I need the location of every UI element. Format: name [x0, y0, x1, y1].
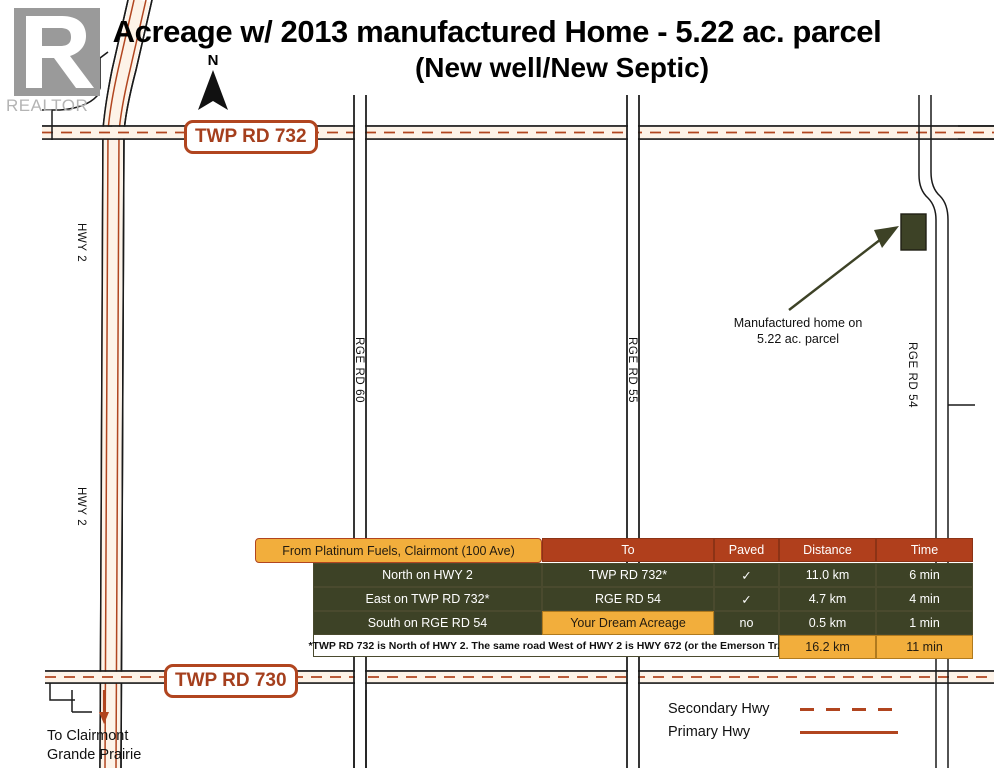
parcel-leader-arrow [789, 226, 899, 310]
map-legend: Secondary Hwy Primary Hwy [668, 697, 908, 743]
north-arrow-label: N [196, 52, 230, 69]
label-hwy-2-lower: HWY 2 [75, 487, 87, 526]
table-row: South on RGE RD 54 Your Dream Acreage no… [313, 611, 973, 635]
shield-twp-rd-730: TWP RD 730 [164, 664, 298, 698]
cell-distance: 0.5 km [779, 611, 876, 635]
table-header-row: From Platinum Fuels, Clairmont (100 Ave)… [255, 538, 973, 563]
table-footer-row: *TWP RD 732 is North of HWY 2. The same … [313, 635, 973, 659]
header-cell-paved: Paved [714, 538, 779, 562]
cell-distance: 11.0 km [779, 563, 876, 587]
cell-time: 4 min [876, 587, 973, 611]
total-time: 11 min [876, 635, 973, 659]
cell-from: South on RGE RD 54 [313, 611, 542, 635]
legend-label-primary: Primary Hwy [668, 724, 786, 740]
destination-line-2: Grande Prairie [47, 746, 141, 765]
parcel-annotation-line-2: 5.22 ac. parcel [718, 331, 878, 347]
label-hwy-2-upper: HWY 2 [75, 223, 87, 262]
parcel-annotation-line-1: Manufactured home on [718, 315, 878, 331]
cell-paved: ✓ [714, 587, 779, 611]
label-rge-rd-55: RGE RD 55 [626, 337, 638, 403]
parcel-marker [901, 214, 926, 250]
parcel-annotation: Manufactured home on 5.22 ac. parcel [718, 315, 878, 347]
total-distance: 16.2 km [779, 635, 876, 659]
header-cell-to: To [542, 538, 714, 562]
highway-2-road [100, 0, 152, 768]
cell-paved: ✓ [714, 563, 779, 587]
destination-line-1: To Clairmont [47, 727, 141, 746]
map-canvas: REALTOR Acreage w/ 2013 manufactured Hom… [0, 0, 994, 768]
header-cell-time: Time [876, 538, 973, 562]
legend-row-primary: Primary Hwy [668, 720, 908, 743]
cell-time: 1 min [876, 611, 973, 635]
north-arrow: N [196, 52, 230, 110]
rge-rd-54-road [919, 95, 975, 768]
cell-to-destination: Your Dream Acreage [542, 611, 714, 635]
label-rge-rd-54: RGE RD 54 [906, 342, 918, 408]
legend-symbol-primary [786, 725, 908, 739]
label-rge-rd-60: RGE RD 60 [353, 337, 365, 403]
rge-rd-60-road [354, 95, 366, 768]
cell-to: TWP RD 732* [542, 563, 714, 587]
cell-paved: no [714, 611, 779, 635]
north-arrow-icon [196, 68, 230, 112]
table-row: East on TWP RD 732* RGE RD 54 ✓ 4.7 km 4… [313, 587, 973, 611]
cell-time: 6 min [876, 563, 973, 587]
legend-label-secondary: Secondary Hwy [668, 701, 786, 717]
table-footnote: *TWP RD 732 is North of HWY 2. The same … [313, 635, 779, 657]
rge-rd-55-road [627, 95, 639, 768]
directions-table: From Platinum Fuels, Clairmont (100 Ave)… [255, 538, 973, 659]
header-cell-distance: Distance [779, 538, 876, 562]
shield-twp-rd-732: TWP RD 732 [184, 120, 318, 154]
table-row: North on HWY 2 TWP RD 732* ✓ 11.0 km 6 m… [313, 563, 973, 587]
cell-from: North on HWY 2 [313, 563, 542, 587]
legend-row-secondary: Secondary Hwy [668, 697, 908, 720]
cell-to: RGE RD 54 [542, 587, 714, 611]
destination-note: To Clairmont Grande Prairie [47, 727, 141, 765]
legend-symbol-secondary [786, 702, 908, 716]
cell-distance: 4.7 km [779, 587, 876, 611]
cell-from: East on TWP RD 732* [313, 587, 542, 611]
header-cell-from: From Platinum Fuels, Clairmont (100 Ave) [255, 538, 542, 563]
